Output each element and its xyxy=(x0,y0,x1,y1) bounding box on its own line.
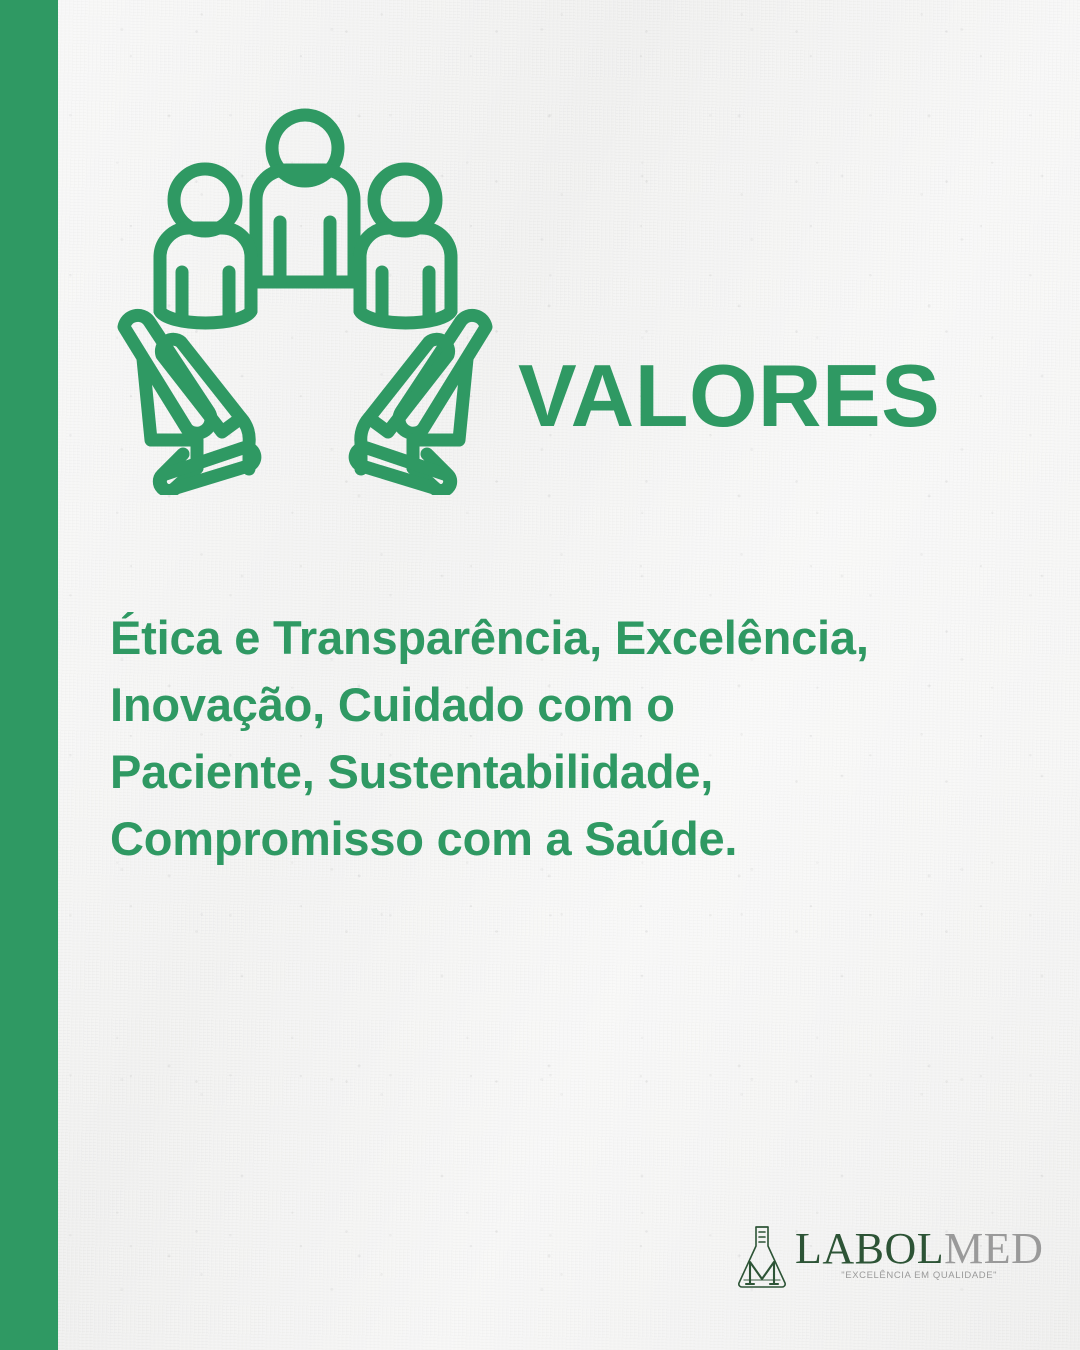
erlenmeyer-flask-m-icon xyxy=(733,1222,791,1292)
values-body-text: Ética e Transparência, Excelência, Inova… xyxy=(110,604,990,872)
brand-name-part-1: LABOL xyxy=(795,1224,944,1273)
values-line-4: Compromisso com a Saúde. xyxy=(110,805,990,872)
values-line-1: Ética e Transparência, Excelência, xyxy=(110,604,990,671)
values-line-2: Inovação, Cuidado com o xyxy=(110,671,990,738)
values-poster: VALORES Ética e Transparência, Excelênci… xyxy=(0,0,1080,1350)
brand-name: LABOLMED xyxy=(795,1226,1043,1272)
hands-holding-people-icon xyxy=(105,100,505,495)
brand-name-part-2: MED xyxy=(944,1224,1043,1273)
values-line-3: Paciente, Sustentabilidade, xyxy=(110,738,990,805)
brand-logo: LABOLMED "EXCELÊNCIA EM QUALIDADE" xyxy=(733,1222,978,1302)
brand-wordmark: LABOLMED "EXCELÊNCIA EM QUALIDADE" xyxy=(795,1222,1043,1281)
page-title: VALORES xyxy=(518,352,940,440)
left-green-accent-bar xyxy=(0,0,58,1350)
